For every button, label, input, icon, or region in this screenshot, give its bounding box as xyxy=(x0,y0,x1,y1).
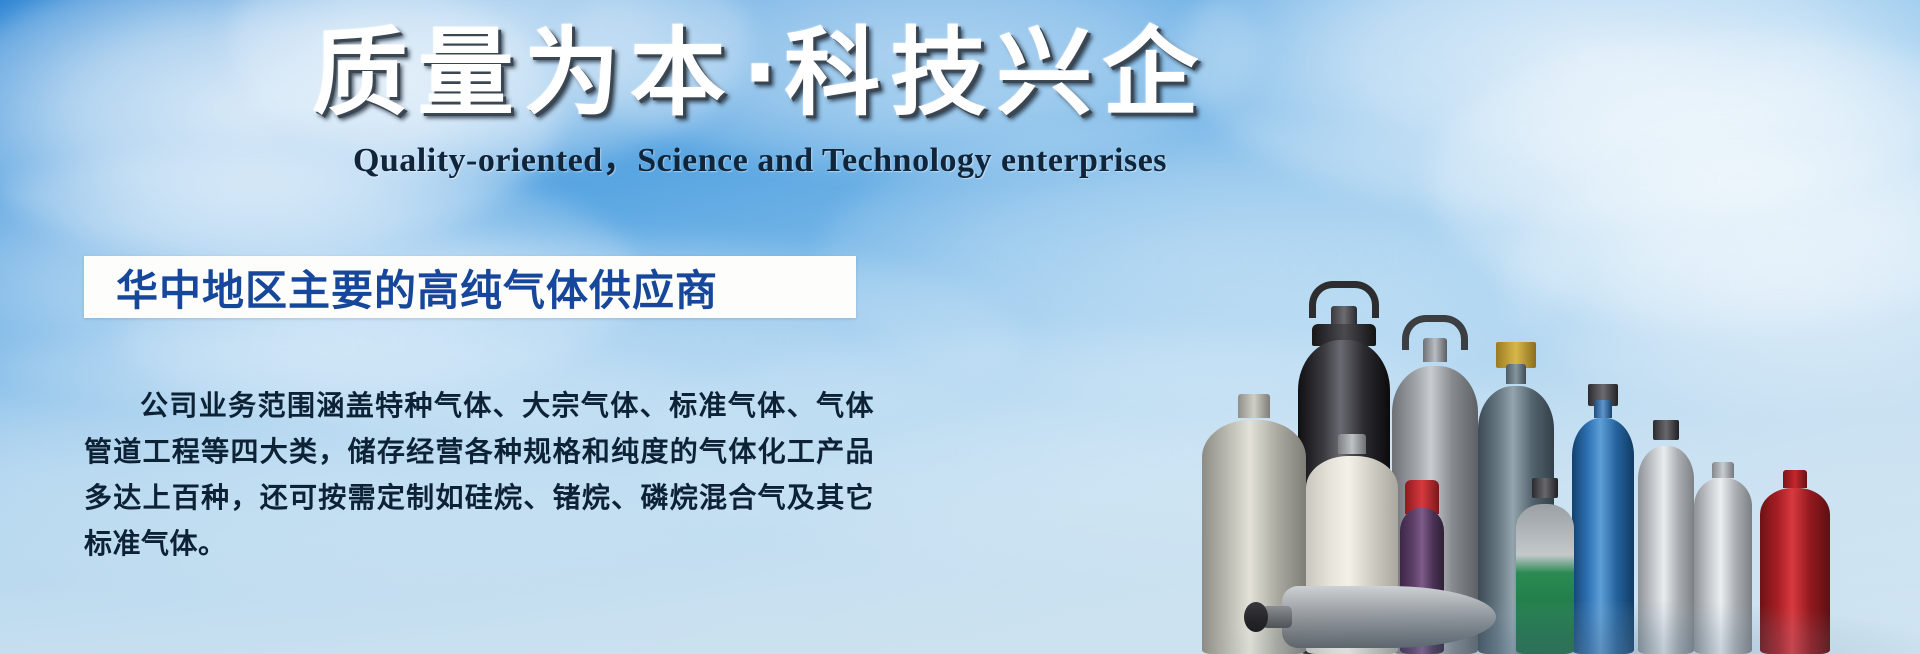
tagline-highlight-box: 华中地区主要的高纯气体供应商 xyxy=(84,256,856,318)
cylinder-neck xyxy=(1238,394,1270,418)
tagline-text: 华中地区主要的高纯气体供应商 xyxy=(116,257,718,318)
cylinder-neck xyxy=(1783,470,1807,488)
headline-english-subtitle: Quality-oriented，Science and Technology … xyxy=(0,132,1520,181)
cylinder-neck xyxy=(1423,338,1447,362)
cylinder-valve xyxy=(1532,478,1558,498)
product-floor-shadow xyxy=(1220,602,1920,654)
cylinder-valve xyxy=(1653,420,1679,440)
gas-cylinder-group-photo xyxy=(1220,234,1920,654)
cylinder-neck xyxy=(1338,434,1366,454)
cylinder-neck xyxy=(1594,400,1612,418)
cylinder-neck xyxy=(1506,364,1526,384)
description-paragraph: 公司业务范围涵盖特种气体、大宗气体、标准气体、气体管道工程等四大类，储存经营各种… xyxy=(84,384,874,568)
promotional-banner: 质量为本·科技兴企 Quality-oriented，Science and T… xyxy=(0,0,1920,654)
cylinder-neck xyxy=(1712,462,1734,478)
